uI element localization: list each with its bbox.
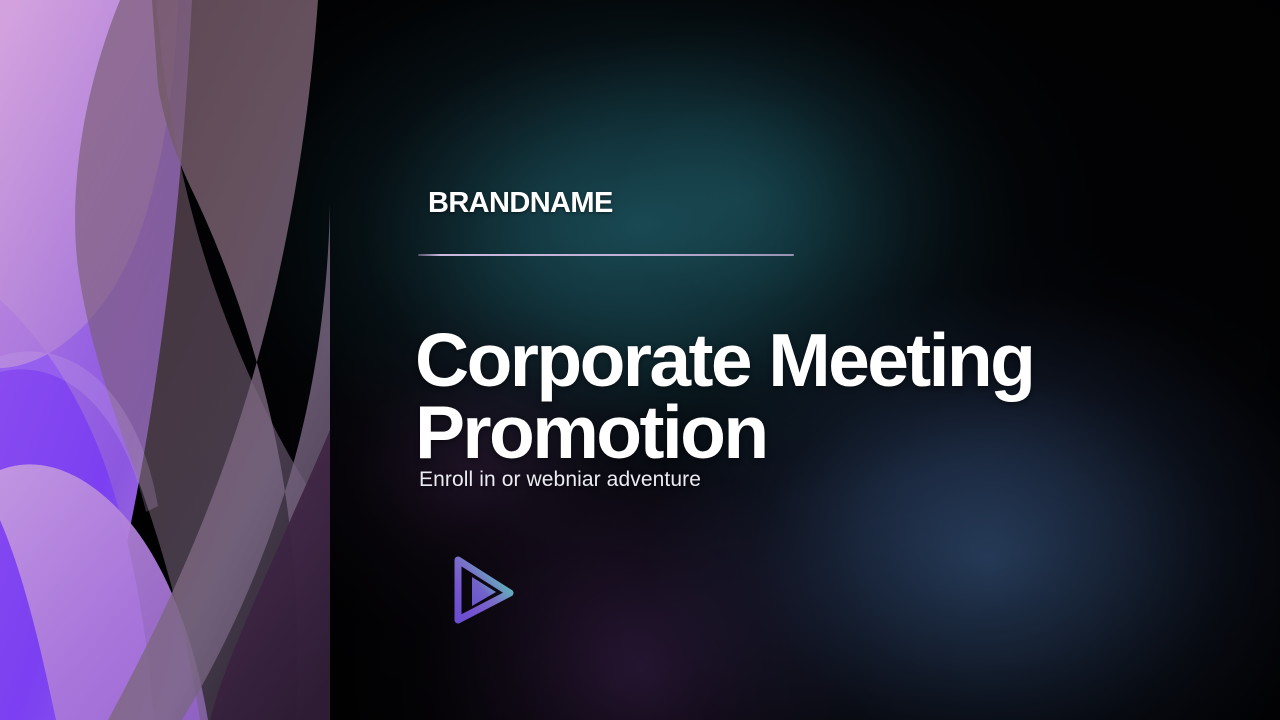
divider-rule xyxy=(418,254,794,256)
headline-line-2: Promotion xyxy=(415,397,1205,469)
decorative-ribbons xyxy=(0,0,330,720)
play-button[interactable] xyxy=(434,552,518,628)
promo-slide: BRANDNAME Corporate Meeting Promotion En… xyxy=(0,0,1280,720)
subtitle: Enroll in or webniar adventure xyxy=(419,468,701,492)
page-title: Corporate Meeting Promotion xyxy=(415,325,1205,468)
play-triangle-icon xyxy=(434,552,518,628)
headline-line-1: Corporate Meeting xyxy=(415,325,1205,397)
content-block: BRANDNAME Corporate Meeting Promotion En… xyxy=(418,0,1238,720)
brand-name: BRANDNAME xyxy=(428,189,613,218)
